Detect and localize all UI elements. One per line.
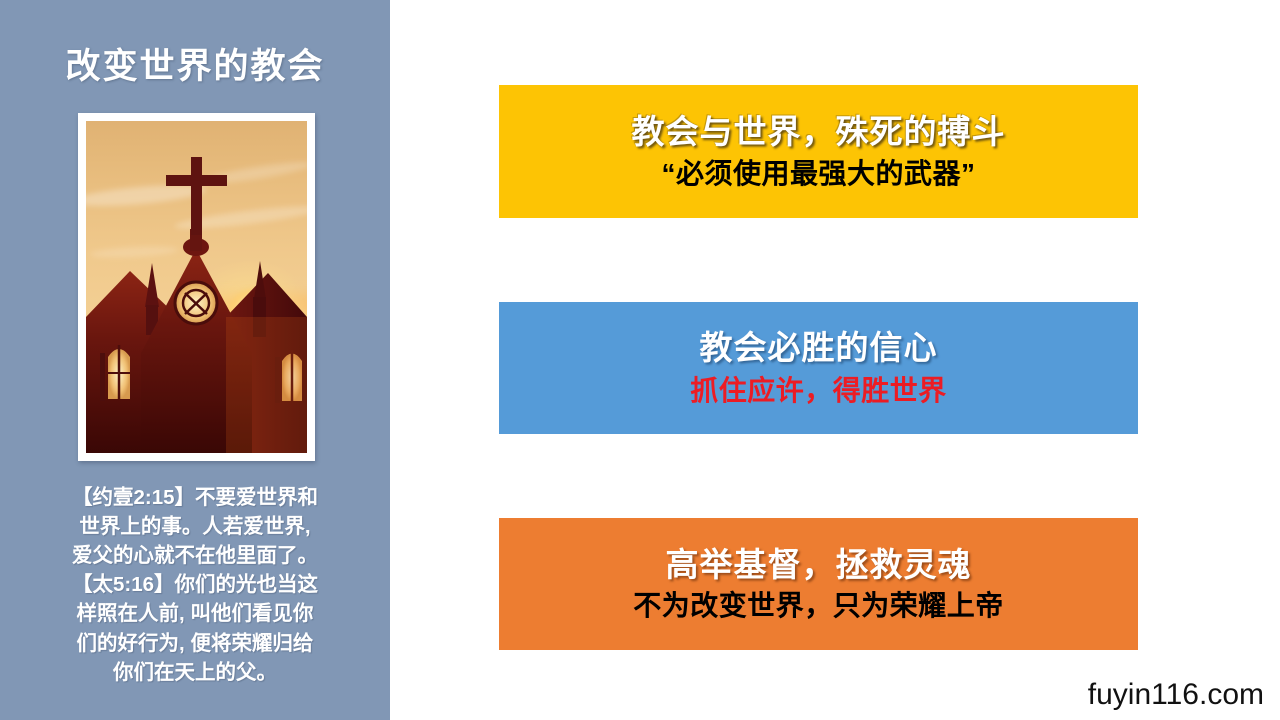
scripture-line: 世界上的事。人若爱世界,: [14, 512, 376, 541]
photo-frame: [78, 113, 315, 461]
panel-heading: 高举基督，拯救灵魂: [666, 545, 972, 585]
scripture-line: 们的好行为, 便将荣耀归给: [14, 629, 376, 658]
scripture-line: 你们在天上的父。: [14, 658, 376, 687]
content-panel-mission: 高举基督，拯救灵魂 不为改变世界，只为荣耀上帝: [499, 518, 1138, 650]
panel-heading: 教会必胜的信心: [700, 328, 938, 368]
content-panel-confidence: 教会必胜的信心 抓住应许，得胜世界: [499, 302, 1138, 434]
panel-subheading: 抓住应许，得胜世界: [690, 373, 947, 408]
scripture-line: 爱父的心就不在他里面了。: [14, 541, 376, 570]
presentation-slide: 改变世界的教会: [0, 0, 1280, 720]
panel-heading: 教会与世界，殊死的搏斗: [632, 112, 1006, 152]
content-panel-conflict: 教会与世界，殊死的搏斗 “必须使用最强大的武器”: [499, 85, 1138, 218]
panel-subheading: 不为改变世界，只为荣耀上帝: [633, 588, 1004, 623]
scripture-line: 【太5:16】你们的光也当这: [14, 570, 376, 599]
scripture-line: 【约壹2:15】不要爱世界和: [14, 483, 376, 512]
scripture-text: 【约壹2:15】不要爱世界和 世界上的事。人若爱世界, 爱父的心就不在他里面了。…: [14, 483, 376, 687]
page-title: 改变世界的教会: [0, 38, 390, 89]
church-silhouette-icon: [86, 121, 307, 453]
church-sunset-image: [86, 121, 307, 453]
sidebar-panel: 改变世界的教会: [0, 0, 390, 720]
site-watermark: fuyin116.com: [1088, 678, 1264, 712]
scripture-line: 样照在人前, 叫他们看见你: [14, 599, 376, 628]
panel-subheading: “必须使用最强大的武器”: [661, 156, 975, 191]
